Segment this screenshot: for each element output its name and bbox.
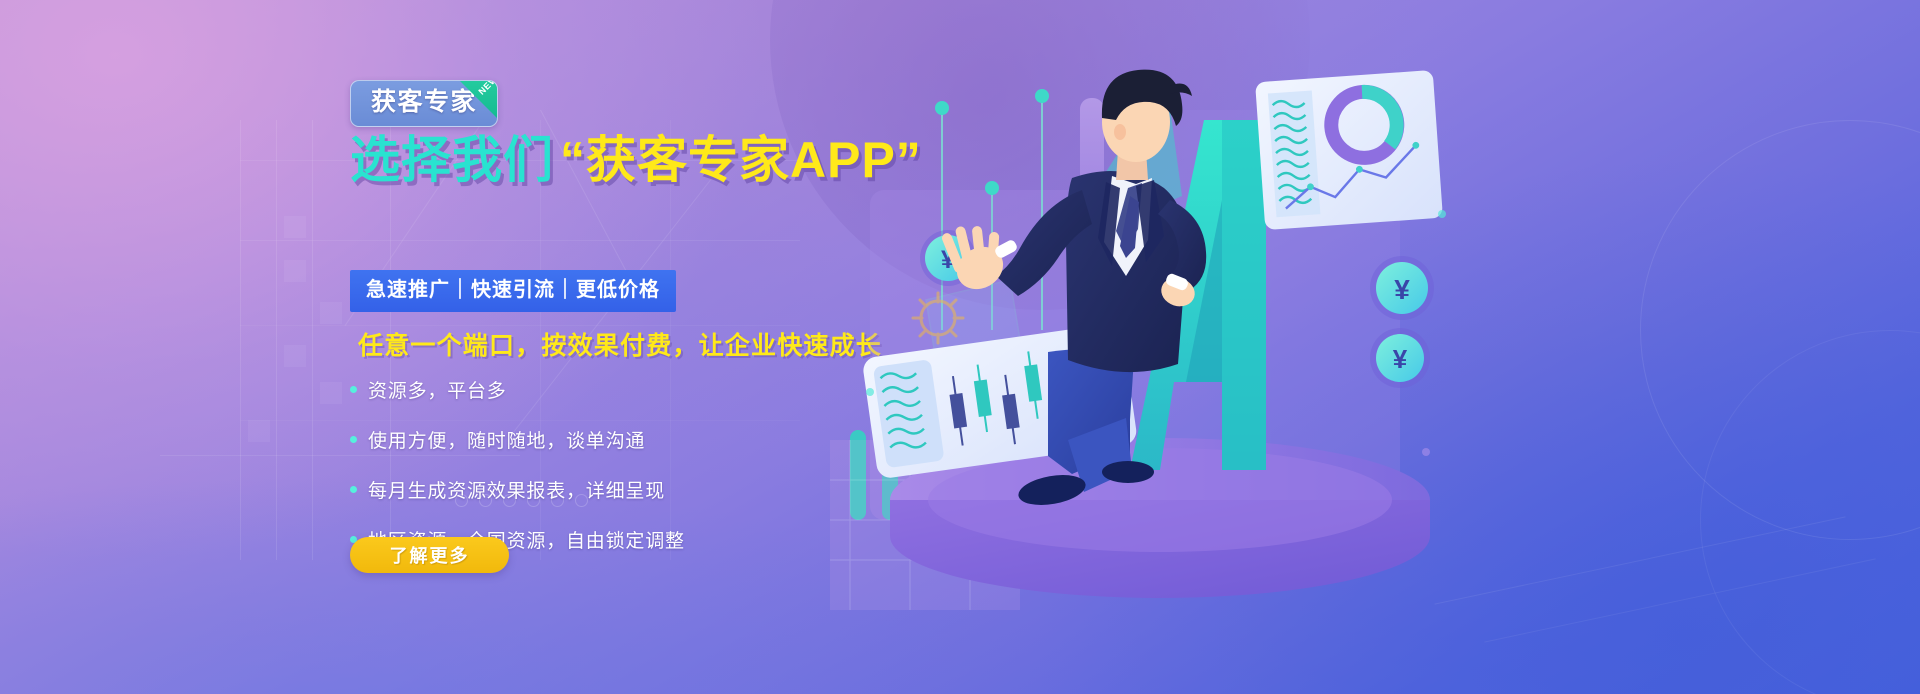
learn-more-button[interactable]: 了解更多 [350,537,509,573]
donut-chart-card [1255,70,1443,230]
list-item-label: 使用方便，随时随地，谈单沟通 [368,426,645,453]
hero-illustration: ¥ ¥ ¥ [830,0,1920,694]
list-item-label: 资源多，平台多 [368,376,507,403]
feature-strip: 急速推广｜快速引流｜更低价格 [350,270,676,312]
promo-banner: 获客专家 NEW 选择我们“获客专家APP” 急速推广｜快速引流｜更低价格 任意… [0,0,1920,694]
bullet-dot-icon [350,436,357,443]
tagline: 任意一个端口，按效果付费，让企业快速成长 [358,326,882,362]
list-item: 资源多，平台多 [350,372,685,406]
coin-icon-2: ¥ [1370,256,1434,320]
list-item: 每月生成资源效果报表，详细呈现 [350,472,685,506]
feature-strip-label: 急速推广｜快速引流｜更低价格 [366,278,660,302]
product-badge[interactable]: 获客专家 NEW [350,80,498,127]
list-item: 使用方便，随时随地，谈单沟通 [350,422,685,456]
product-badge-label: 获客专家 [371,88,477,117]
list-item-label: 每月生成资源效果报表，详细呈现 [368,476,665,503]
bullet-dot-icon [350,486,357,493]
svg-text:¥: ¥ [1393,344,1408,374]
bullet-dot-icon [350,386,357,393]
svg-text:¥: ¥ [1394,274,1410,305]
new-ribbon-label: NEW [476,80,498,97]
product-badge-wrapper: 获客专家 NEW [350,80,498,132]
headline-part-primary: 选择我们 [350,132,554,188]
coin-icon-3: ¥ [1370,328,1430,388]
